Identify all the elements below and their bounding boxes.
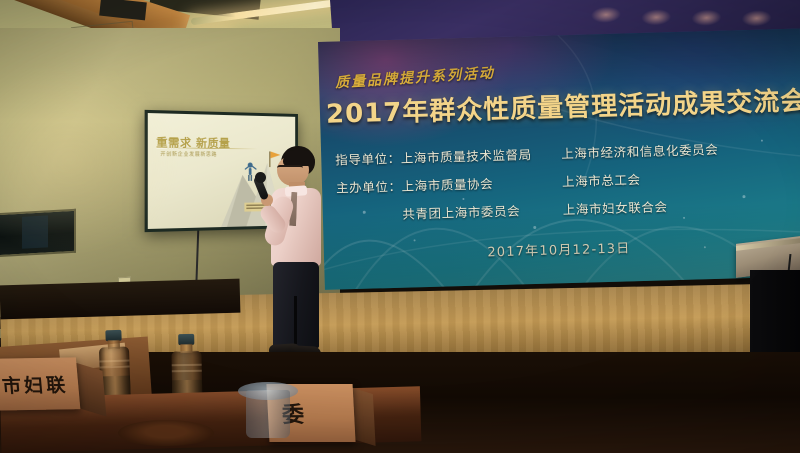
podium [736,240,800,360]
stage-riser-dark-area [0,279,240,320]
booth-window-pane [22,215,48,248]
microphone-head-icon [255,172,266,183]
conference-photo-scene: 重需求 新质量 开创新企业发展新思路 [0,0,800,453]
name-card-text: 市妇联 [0,357,80,410]
speaker-hair-front [283,150,315,166]
event-backdrop-banner: 质量品牌提升系列活动 2017年群众性质量管理活动成果交流会 指导单位：上海市质… [318,29,800,290]
speaker-leg-separation [294,296,297,344]
podium-body [750,270,800,362]
glasses-icon [277,165,303,173]
drinking-glass [246,390,290,438]
projection-booth-window [0,209,76,257]
speaker-person [259,146,345,364]
banner-vignette [318,29,800,290]
saucer [118,420,214,446]
name-card: 市妇联 [0,357,80,410]
